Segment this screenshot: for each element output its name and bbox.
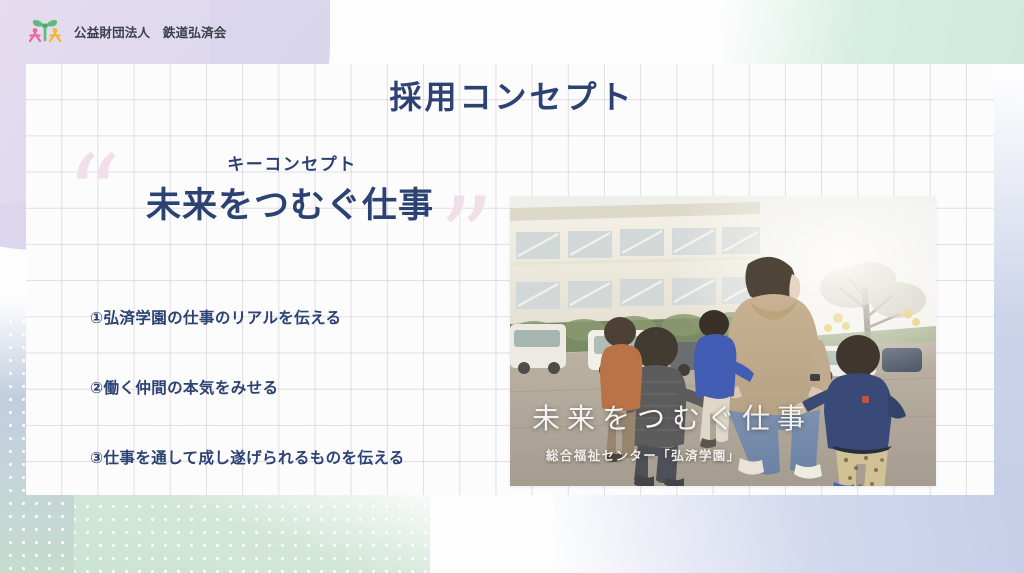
ribbon-people-logo-icon bbox=[24, 16, 66, 46]
decor-band-right-lavender bbox=[966, 80, 1024, 510]
key-concept-label: キーコンセプト bbox=[60, 150, 490, 175]
decor-band-top-right-mint bbox=[724, 0, 1024, 64]
concept-photo: 未来をつむぐ仕事 総合福祉センター「弘済学園」 bbox=[510, 196, 936, 486]
organization-logo: 公益財団法人 鉄道弘済会 bbox=[24, 16, 226, 46]
decor-band-bottom-left bbox=[0, 483, 430, 573]
page-title: 採用コンセプト bbox=[0, 72, 1024, 118]
list-item: ③仕事を通して成し遂げられるものを伝える bbox=[90, 446, 490, 468]
list-item: ①弘済学園の仕事のリアルを伝える bbox=[90, 306, 490, 328]
slide-canvas: 公益財団法人 鉄道弘済会 採用コンセプト “ ” キーコンセプト 未来をつむぐ仕… bbox=[0, 0, 1024, 573]
decor-band-bottom-right bbox=[554, 489, 1024, 573]
concept-column: “ ” キーコンセプト 未来をつむぐ仕事 ①弘済学園の仕事のリアルを伝える ②働… bbox=[60, 150, 490, 468]
concept-points-list: ①弘済学園の仕事のリアルを伝える ②働く仲間の本気をみせる ③仕事を通して成し遂… bbox=[60, 306, 490, 468]
key-concept-block: “ ” キーコンセプト 未来をつむぐ仕事 bbox=[60, 150, 490, 270]
key-concept-headline: 未来をつむぐ仕事 bbox=[60, 177, 490, 228]
list-item: ②働く仲間の本気をみせる bbox=[90, 376, 490, 398]
organization-name: 公益財団法人 鉄道弘済会 bbox=[74, 22, 226, 41]
